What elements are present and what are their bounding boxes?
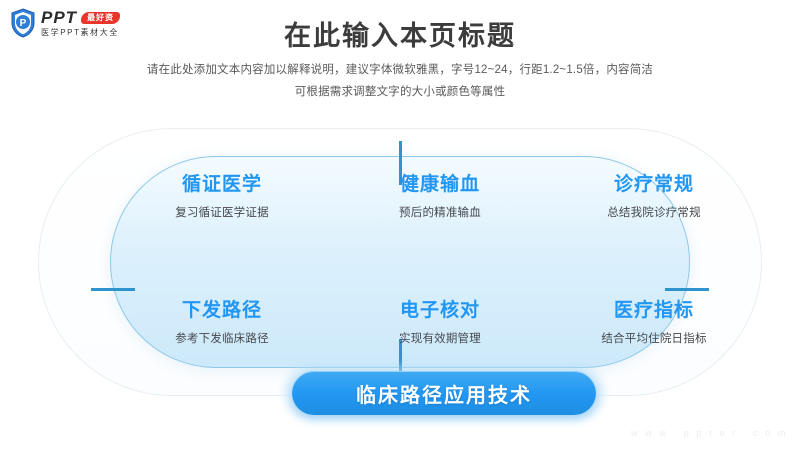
item-healthy-transfusion[interactable]: 健康输血 预后的精准输血 [340, 174, 540, 220]
subtitle-line-2: 可根据需求调整文字的大小或颜色等属性 [0, 82, 800, 104]
item-heading: 电子核对 [340, 300, 540, 323]
center-pill-label: 临床路径应用技术 [356, 379, 532, 408]
item-heading: 医疗指标 [554, 300, 754, 323]
page-title: 在此输入本页标题 [0, 14, 800, 53]
item-heading: 下发路径 [122, 300, 322, 323]
item-description: 结合平均住院日指标 [554, 330, 754, 346]
item-path-issuance[interactable]: 下发路径 参考下发临床路径 [122, 300, 322, 346]
item-description: 参考下发临床路径 [122, 330, 322, 346]
item-heading: 循证医学 [122, 174, 322, 197]
item-heading: 诊疗常规 [554, 174, 754, 197]
footer-watermark: w w w . p p t e r . c o m [631, 428, 788, 438]
item-medical-indicators[interactable]: 医疗指标 结合平均住院日指标 [554, 300, 754, 346]
item-electronic-verification[interactable]: 电子核对 实现有效期管理 [340, 300, 540, 346]
page-subtitle: 请在此处添加文本内容加以解释说明，建议字体微软雅黑，字号12~24，行距1.2~… [0, 60, 800, 104]
item-description: 复习循证医学证据 [122, 204, 322, 220]
subtitle-line-1: 请在此处添加文本内容加以解释说明，建议字体微软雅黑，字号12~24，行距1.2~… [0, 60, 800, 82]
center-pill-button[interactable]: 临床路径应用技术 [292, 371, 596, 415]
item-clinical-routine[interactable]: 诊疗常规 总结我院诊疗常规 [554, 174, 754, 220]
item-heading: 健康输血 [340, 174, 540, 197]
item-description: 实现有效期管理 [340, 330, 540, 346]
item-evidence-medicine[interactable]: 循证医学 复习循证医学证据 [122, 174, 322, 220]
item-description: 总结我院诊疗常规 [554, 204, 754, 220]
connector-tick-left [91, 288, 135, 291]
stadium-diagram: 循证医学 复习循证医学证据 健康输血 预后的精准输血 诊疗常规 总结我院诊疗常规… [38, 128, 762, 396]
item-description: 预后的精准输血 [340, 204, 540, 220]
connector-tick-right [665, 288, 709, 291]
